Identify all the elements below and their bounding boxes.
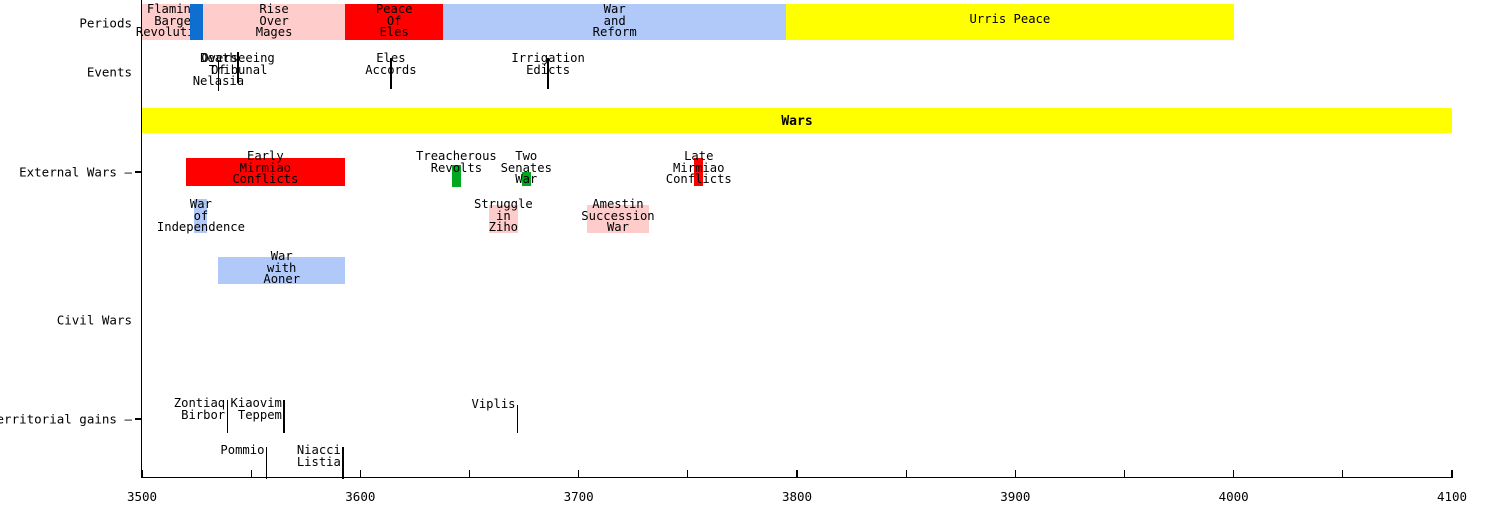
- external-war-label-war-with-aoner: WarwithAoner: [263, 251, 300, 286]
- wars-band-label: Wars: [781, 114, 812, 129]
- external-war-label-treacherous-revolts: TreacherousRevolts: [416, 151, 497, 174]
- territorial-gain-tick-zontiaq-birbor: [227, 400, 228, 433]
- external-war-label-two-senates-war: TwoSenatesWar: [501, 151, 552, 186]
- y-axis-line: [141, 0, 142, 478]
- x-axis-tick: [141, 470, 142, 478]
- y-axis-tick: [135, 418, 141, 419]
- external-war-label-amestin-succession-war: AmestinSuccessionWar: [581, 199, 654, 234]
- territorial-gain-tick-niacci-listia: [342, 447, 343, 479]
- x-axis-tick: [469, 470, 470, 478]
- external-war-label-war-of-independence: WarofIndependence: [157, 199, 245, 234]
- y-axis-tick: [135, 171, 141, 172]
- period-label-peace-of-eles: PeaceOfEles: [376, 4, 413, 39]
- territorial-gain-tick-viplis: [517, 405, 518, 433]
- x-axis-tick: [1233, 470, 1234, 478]
- period-label-rise-over-mages: RiseOverMages: [256, 4, 293, 39]
- x-axis-tick-label: 4100: [1437, 489, 1467, 504]
- x-axis-tick-label: 4000: [1219, 489, 1249, 504]
- x-axis-tick-label: 3600: [345, 489, 375, 504]
- timeline-chart: 3500360037003800390040004100PeriodsEvent…: [0, 0, 1500, 520]
- external-war-label-late-mirmiao-conflicts: LateMirmiaoConflicts: [666, 151, 732, 186]
- row-label-periods: Periods: [79, 16, 132, 31]
- x-axis-tick-label: 3500: [127, 489, 157, 504]
- x-axis-tick: [796, 470, 797, 478]
- period-label-war-and-reform: WarandReform: [593, 4, 637, 39]
- row-label-civil-wars: Civil Wars: [57, 313, 132, 328]
- x-axis-tick: [906, 470, 907, 478]
- event-label-overseeing-tribunal: OverseeingTribunal: [201, 53, 274, 76]
- territorial-gain-label-niacci-listia: NiacciListia: [297, 445, 341, 468]
- period-label-urrispeace: Urris Peace: [970, 14, 1051, 26]
- external-war-label-early-mirmiao-conflicts: EarlyMirmiaoConflicts: [232, 151, 298, 186]
- external-war-label-struggle-in-ziho: StruggleinZiho: [474, 199, 533, 234]
- row-label-events: Events: [87, 65, 132, 80]
- x-axis-tick: [1451, 470, 1452, 478]
- x-axis-tick: [360, 470, 361, 478]
- x-axis-tick-label: 3700: [564, 489, 594, 504]
- x-axis-tick: [1124, 470, 1125, 478]
- territorial-gain-label-pommio: Pommio: [220, 445, 264, 457]
- territorial-gain-label-zontiaq-birbor: ZontiaqBirbor: [174, 398, 225, 421]
- x-axis-tick: [687, 470, 688, 478]
- event-label-irrigation-edicts: IrrigationEdicts: [511, 53, 584, 76]
- period-band-item: [190, 4, 203, 40]
- event-label-eles-accords: ElesAccords: [365, 53, 416, 76]
- x-axis-tick-label: 3800: [782, 489, 812, 504]
- territorial-gain-tick-kiaovim-teppem: [283, 400, 284, 433]
- x-axis-tick: [578, 470, 579, 478]
- territorial-gain-label-kiaovim-teppem: KiaovimTeppem: [231, 398, 282, 421]
- row-label-territorial-gains: Territorial gains –: [0, 412, 132, 427]
- x-axis-tick: [251, 470, 252, 478]
- territorial-gain-label-viplis: Viplis: [472, 399, 516, 411]
- row-label-external-wars: External Wars –: [19, 165, 132, 180]
- x-axis-tick-label: 3900: [1000, 489, 1030, 504]
- x-axis-tick: [1342, 470, 1343, 478]
- territorial-gain-tick-pommio: [266, 447, 267, 479]
- x-axis-tick: [1015, 470, 1016, 478]
